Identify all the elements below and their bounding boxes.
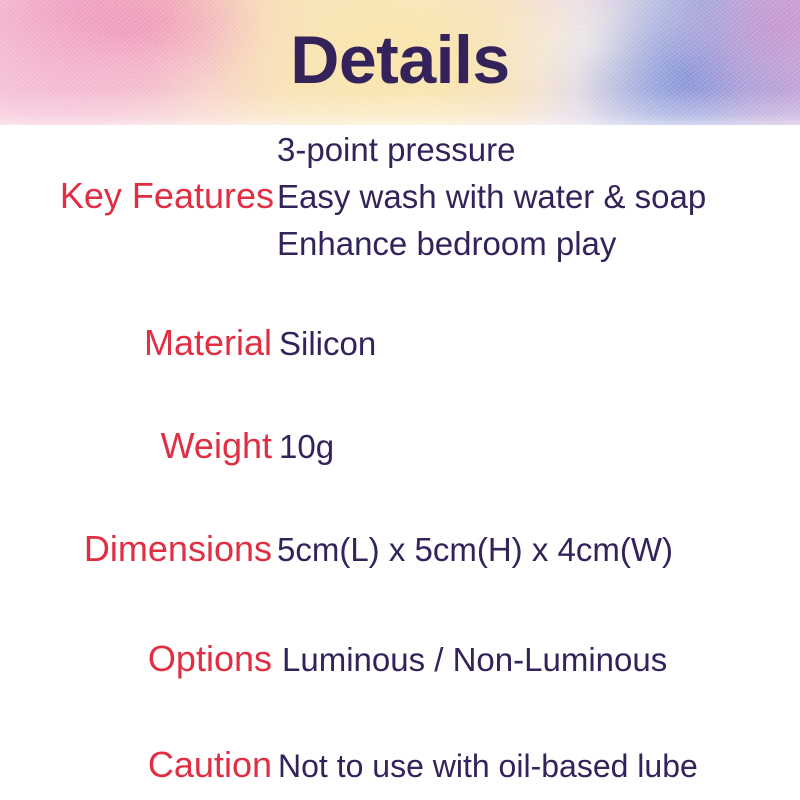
spec-value-dimensions: 5cm(L) x 5cm(H) x 4cm(W) — [274, 526, 800, 573]
spec-row-material: Material Silicon — [0, 319, 800, 367]
spec-value-caution: Not to use with oil-based lube — [274, 743, 800, 790]
spec-label-dimensions: Dimensions — [0, 525, 274, 572]
spec-row-caution: Caution Not to use with oil-based lube — [0, 741, 800, 790]
spec-label-key-features: Key Features — [0, 172, 274, 219]
spec-label-material: Material — [0, 319, 274, 366]
spec-value-line: Easy wash with water & soap — [277, 173, 800, 220]
spec-value-weight: 10g — [274, 423, 800, 470]
spec-row-options: Options Luminous / Non-Luminous — [0, 635, 800, 683]
spec-row-key-features: Key Features 3-point pressure Easy wash … — [0, 125, 800, 267]
page-header-banner: Details — [0, 0, 800, 125]
spec-value-key-features: 3-point pressure Easy wash with water & … — [274, 126, 800, 267]
spec-value-material: Silicon — [274, 320, 800, 367]
spec-row-dimensions: Dimensions 5cm(L) x 5cm(H) x 4cm(W) — [0, 525, 800, 573]
spec-label-weight: Weight — [0, 422, 274, 469]
spec-value-line: Not to use with oil-based lube — [278, 743, 800, 790]
spec-label-caution: Caution — [0, 741, 274, 788]
spec-value-line: Luminous / Non-Luminous — [282, 636, 800, 683]
spec-value-line: 3-point pressure — [277, 126, 800, 173]
spec-value-line: Enhance bedroom play — [277, 220, 800, 267]
spec-value-line: Silicon — [279, 320, 800, 367]
spec-value-line: 5cm(L) x 5cm(H) x 4cm(W) — [277, 526, 800, 573]
spec-row-weight: Weight 10g — [0, 422, 800, 470]
spec-label-options: Options — [0, 635, 274, 682]
page-title: Details — [0, 6, 800, 114]
spec-value-line: 10g — [279, 423, 800, 470]
specification-table: Key Features 3-point pressure Easy wash … — [0, 125, 800, 790]
spec-value-options: Luminous / Non-Luminous — [274, 636, 800, 683]
product-details-page: Details Key Features 3-point pressure Ea… — [0, 0, 800, 800]
